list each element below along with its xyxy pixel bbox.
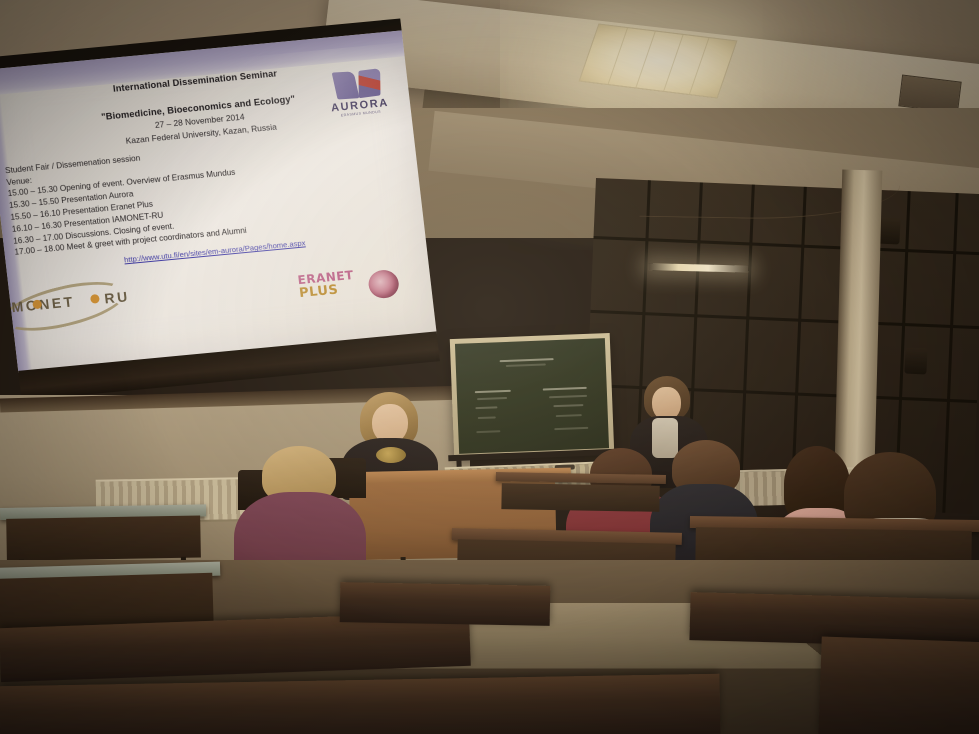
chalkboard-surface: [455, 338, 609, 454]
chalkboard: [450, 333, 614, 459]
foreground-bench: [818, 637, 979, 734]
projector-screen: International Dissemination Seminar "Bio…: [0, 18, 440, 400]
classroom-photo: International Dissemination Seminar "Bio…: [0, 0, 979, 734]
aurora-logo-icon: AURORA ERASMUS MUNDUS: [320, 65, 397, 118]
slide-surface: International Dissemination Seminar "Bio…: [0, 30, 437, 373]
foreground-bench: [340, 582, 551, 626]
iamonet-suffix: RU: [104, 288, 131, 306]
aurora-book-icon: [332, 67, 383, 101]
presenter-left-necklace: [376, 447, 406, 463]
chalkboard-frame: [450, 333, 614, 459]
corridor-strip-light: [648, 263, 748, 272]
wall-speaker-lower-icon: [904, 347, 927, 374]
